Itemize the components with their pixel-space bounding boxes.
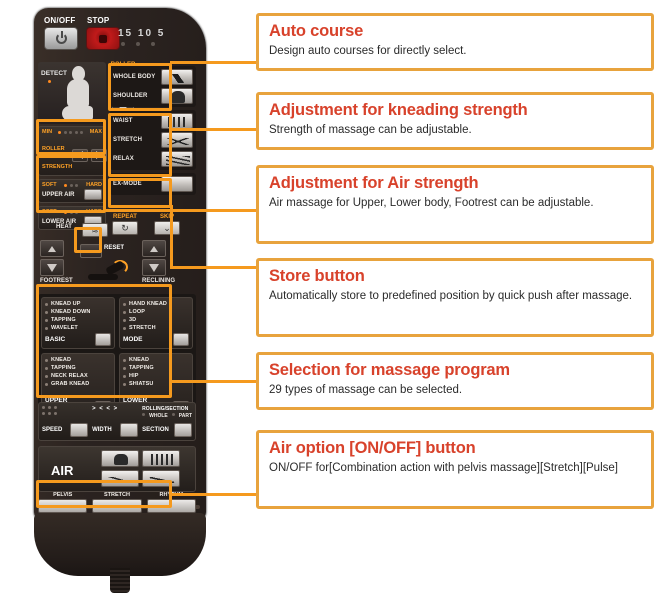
callout-body: 29 types of massage can be selected. xyxy=(269,383,641,398)
auto-course-label: WAIST xyxy=(113,118,133,124)
led xyxy=(69,131,72,134)
program-label: KNEAD xyxy=(51,357,71,363)
led xyxy=(123,359,126,362)
program-label: KNEAD xyxy=(129,357,149,363)
width-button-row[interactable]: WIDTH xyxy=(92,423,138,437)
program-label: STRETCH xyxy=(129,325,156,331)
auto-course-group-2: WAIST STRETCH RELAX xyxy=(110,110,196,170)
program-item[interactable]: KNEAD UP xyxy=(45,301,111,307)
connector-air-strength xyxy=(104,209,260,212)
stretch-label: STRETCH xyxy=(92,492,141,498)
auto-course-panel: WHOLE BODY SHOULDER WAIST STRETCH RELAX xyxy=(110,66,196,198)
min-label: MIN xyxy=(42,129,52,135)
led xyxy=(75,184,78,187)
roller-strength-increase-button[interactable] xyxy=(91,149,107,162)
heat-label: HEAT xyxy=(56,224,72,230)
section-cell: ROLLING/SECTION WHOLE PART SECTION xyxy=(142,406,192,437)
callout-auto-course: Auto course Design auto courses for dire… xyxy=(256,13,654,71)
program-item[interactable]: LOOP xyxy=(123,309,189,315)
roller-strength-label-line1: ROLLER xyxy=(42,146,65,152)
auto-course-label: EX-MODE xyxy=(113,181,142,187)
mode-label: MODE xyxy=(123,336,143,343)
program-label: KNEAD UP xyxy=(51,301,81,307)
led xyxy=(54,406,57,409)
led xyxy=(48,406,51,409)
led xyxy=(70,184,73,187)
width-cell: > < < > WIDTH xyxy=(92,406,138,437)
program-item[interactable]: GRAB KNEAD xyxy=(45,381,111,387)
speed-width-section-panel: SPEED > < < > WIDTH ROLLING/SECTION WHOL… xyxy=(38,402,196,441)
pelvis-cell: PELVIS xyxy=(38,492,87,513)
auto-course-group-1: WHOLE BODY SHOULDER xyxy=(110,66,196,107)
width-label: WIDTH xyxy=(92,427,112,433)
timer-indicator-dots xyxy=(121,42,196,46)
stretch-button[interactable] xyxy=(92,499,141,513)
reset-label: RESET xyxy=(104,245,124,251)
led xyxy=(42,406,45,409)
footrest-up-button[interactable] xyxy=(40,240,64,257)
connector-store xyxy=(170,266,260,269)
basic-label: BASIC xyxy=(45,336,65,343)
onoff-button[interactable] xyxy=(44,27,78,50)
footrest-controls: FOOTREST xyxy=(40,240,66,284)
stretch-cell: STRETCH xyxy=(92,492,141,513)
waist-icon[interactable] xyxy=(161,113,193,129)
program-item[interactable]: KNEAD DOWN xyxy=(45,309,111,315)
program-label: TAPPING xyxy=(51,365,76,371)
upper-air-button[interactable] xyxy=(84,189,102,200)
connector-auto-course xyxy=(170,61,260,64)
program-item[interactable]: TAPPING xyxy=(45,365,111,371)
led xyxy=(64,184,67,187)
speed-button-row[interactable]: SPEED xyxy=(42,423,88,437)
led xyxy=(45,311,48,314)
led xyxy=(123,319,126,322)
roller-strength-scale: MIN MAX xyxy=(42,129,102,135)
auto-course-stretch[interactable]: STRETCH xyxy=(113,132,193,148)
ex-mode-button[interactable] xyxy=(161,176,193,192)
air-icon-buttons xyxy=(101,450,180,487)
callout-title: Selection for massage program xyxy=(269,361,641,380)
timer-dot xyxy=(121,42,125,46)
auto-course-group-3: EX-MODE xyxy=(110,173,196,195)
auto-course-label: STRETCH xyxy=(113,137,142,143)
mode-button-row[interactable]: MODE xyxy=(123,333,189,346)
air-foot-icon[interactable] xyxy=(142,470,180,487)
speed-indicator xyxy=(42,406,88,421)
led xyxy=(75,131,78,134)
callout-body: Air massage for Upper, Lower body, Footr… xyxy=(269,196,641,211)
timer-values: 15 10 5 xyxy=(118,28,196,39)
pelvis-button[interactable] xyxy=(38,499,87,513)
triangle-down-icon xyxy=(149,264,159,272)
led xyxy=(45,327,48,330)
program-label: KNEAD DOWN xyxy=(51,309,91,315)
callout-title: Store button xyxy=(269,267,641,286)
relax-icon[interactable] xyxy=(161,151,193,167)
power-icon xyxy=(56,33,67,44)
speed-button[interactable] xyxy=(70,423,88,437)
led xyxy=(45,359,48,362)
heat-control[interactable]: HEAT xyxy=(56,224,72,230)
width-arrows-icon: > < < > xyxy=(92,406,138,412)
basic-program-column: KNEAD UP KNEAD DOWN TAPPING WAVELET BASI… xyxy=(41,297,115,349)
upper-air-controls: UPPER AIR xyxy=(42,189,102,200)
air-leg-icon[interactable] xyxy=(101,470,139,487)
onoff-label: ON/OFF xyxy=(44,16,75,25)
air-waist-icon[interactable] xyxy=(142,450,180,467)
program-label: LOOP xyxy=(129,309,145,315)
rolling-section-title: ROLLING/SECTION xyxy=(142,406,192,412)
callout-air-option: Air option [ON/OFF] button ON/OFF for[Co… xyxy=(256,430,654,509)
upper-air-row: SOFT HARD UPPER AIR xyxy=(38,179,106,203)
reclining-controls: RECLINING xyxy=(142,240,168,284)
repeat-arrow-icon[interactable]: ↻ xyxy=(112,221,138,235)
led xyxy=(172,413,175,416)
callout-air-strength: Adjustment for Air strength Air massage … xyxy=(256,165,654,244)
callout-massage-program: Selection for massage program 29 types o… xyxy=(256,352,654,410)
program-item[interactable]: NECK RELAX xyxy=(45,373,111,379)
program-label: NECK RELAX xyxy=(51,373,88,379)
callout-title: Air option [ON/OFF] button xyxy=(269,439,641,458)
detect-led xyxy=(48,80,51,83)
connector-kneading xyxy=(170,128,260,131)
callout-body: ON/OFF for[Combination action with pelvi… xyxy=(269,461,641,476)
speed-leds-row1 xyxy=(42,406,88,409)
program-label: GRAB KNEAD xyxy=(51,381,89,387)
auto-course-label: WHOLE BODY xyxy=(113,74,155,80)
silhouette-torso xyxy=(67,79,89,108)
auto-course-label: SHOULDER xyxy=(113,93,147,99)
roller-strength-row: MIN MAX ROLLER STRENGTH xyxy=(38,126,106,176)
program-label: TAPPING xyxy=(51,317,76,323)
chevron-down-icon[interactable]: ⌄ xyxy=(154,221,180,235)
callout-title: Adjustment for Air strength xyxy=(269,174,641,193)
upper-air-soft-label: SOFT xyxy=(42,182,57,188)
led xyxy=(54,412,57,415)
whole-part-row: WHOLE PART xyxy=(142,413,192,419)
air-panel: AIR xyxy=(38,446,196,492)
roller-strength-decrease-button[interactable] xyxy=(72,149,88,162)
store-reset-button[interactable] xyxy=(80,244,102,258)
triangle-up-icon xyxy=(47,245,57,253)
led xyxy=(45,375,48,378)
heat-button[interactable]: ≋ xyxy=(82,222,108,237)
section-button[interactable] xyxy=(174,423,192,437)
roller-strength-label-line2: STRENGTH xyxy=(42,164,72,170)
reclining-down-button[interactable] xyxy=(142,259,166,276)
part-label: PART xyxy=(179,413,192,419)
air-title: AIR xyxy=(51,463,73,478)
stop-button[interactable] xyxy=(86,27,120,50)
upper-air-hard-label: HARD xyxy=(86,182,102,188)
silhouette-legs xyxy=(62,106,93,121)
led xyxy=(64,131,67,134)
mode-button[interactable] xyxy=(173,333,189,346)
shoulder-person-icon[interactable] xyxy=(161,88,193,104)
max-label: MAX xyxy=(90,129,102,135)
chair-seat xyxy=(88,274,118,280)
rhythm-button[interactable] xyxy=(147,499,196,513)
program-label: WAVELET xyxy=(51,325,78,331)
connector-program xyxy=(170,380,260,383)
timer-dot xyxy=(151,42,155,46)
program-label: SHIATSU xyxy=(129,381,153,387)
reclining-up-button[interactable] xyxy=(142,240,166,257)
led xyxy=(123,383,126,386)
width-button[interactable] xyxy=(120,423,138,437)
section-button-row[interactable]: SECTION xyxy=(142,423,192,437)
arrow-right-icon xyxy=(96,151,102,159)
auto-course-whole-body[interactable]: WHOLE BODY xyxy=(113,69,193,85)
roller-strength-leds xyxy=(58,131,83,134)
detect-panel: DETECT xyxy=(38,62,106,124)
basic-button-row[interactable]: BASIC xyxy=(45,333,111,346)
program-item[interactable]: HAND KNEAD xyxy=(123,301,189,307)
reclining-chair-icon[interactable] xyxy=(161,69,193,85)
callout-body: Automatically store to predefined positi… xyxy=(269,289,641,304)
led xyxy=(58,131,61,134)
auto-course-ex-mode[interactable]: EX-MODE xyxy=(113,176,193,192)
auto-course-waist[interactable]: WAIST xyxy=(113,113,193,129)
heat-waves-icon[interactable]: ≋ xyxy=(82,223,108,237)
program-item[interactable]: 3D xyxy=(123,317,189,323)
program-item[interactable]: STRETCH xyxy=(123,325,189,331)
repeat-control[interactable]: REPEAT ↻ xyxy=(112,214,138,235)
led xyxy=(45,319,48,322)
upper-air-scale: SOFT HARD xyxy=(42,182,102,188)
air-shoulder-icon[interactable] xyxy=(101,450,139,467)
timer-dot xyxy=(136,42,140,46)
led xyxy=(123,311,126,314)
whole-label: WHOLE xyxy=(149,413,168,419)
remote-header: ON/OFF STOP 15 10 5 xyxy=(40,14,200,62)
led xyxy=(45,303,48,306)
stop-square-icon xyxy=(99,35,107,43)
pelvis-label: PELVIS xyxy=(38,492,87,498)
auto-course-shoulder[interactable]: SHOULDER xyxy=(113,88,193,104)
program-item[interactable]: HIP xyxy=(123,373,189,379)
speed-label: SPEED xyxy=(42,427,62,433)
roller-strength-controls: ROLLER STRENGTH xyxy=(42,137,102,173)
callout-body: Design auto courses for directly select. xyxy=(269,44,641,59)
stop-label: STOP xyxy=(87,16,109,25)
connector-vertical xyxy=(170,205,173,269)
skip-control[interactable]: SKIP ⌄ xyxy=(154,214,180,235)
program-label: HAND KNEAD xyxy=(129,301,167,307)
footrest-down-button[interactable] xyxy=(40,259,64,276)
callout-store-button: Store button Automatically store to pred… xyxy=(256,258,654,337)
body-silhouette-icon xyxy=(62,66,96,122)
led xyxy=(142,413,145,416)
remote-lower-housing xyxy=(34,513,206,576)
triangle-up-icon xyxy=(149,245,159,253)
led xyxy=(123,367,126,370)
led xyxy=(42,412,45,415)
led xyxy=(45,367,48,370)
repeat-label: REPEAT xyxy=(112,214,138,220)
skip-label: SKIP xyxy=(154,214,180,220)
chair-recline-icon xyxy=(88,262,128,282)
callout-body: Strength of massage can be adjustable. xyxy=(269,123,641,138)
program-item[interactable]: KNEAD xyxy=(123,357,189,363)
section-label: SECTION xyxy=(142,427,169,433)
arrow-left-icon xyxy=(77,151,83,159)
basic-button[interactable] xyxy=(95,333,111,346)
auto-course-label: RELAX xyxy=(113,156,134,162)
remote-cable xyxy=(110,568,130,593)
reclining-label: RECLINING xyxy=(142,278,168,284)
triangle-down-icon xyxy=(47,264,57,272)
section-indicator: ROLLING/SECTION WHOLE PART xyxy=(142,406,192,421)
upper-air-label: UPPER AIR xyxy=(42,192,74,198)
led xyxy=(45,383,48,386)
stretch-icon[interactable] xyxy=(161,132,193,148)
program-label: TAPPING xyxy=(129,365,154,371)
connector-air-option xyxy=(170,493,260,496)
led xyxy=(123,303,126,306)
mode-program-column: HAND KNEAD LOOP 3D STRETCH MODE xyxy=(119,297,193,349)
program-label: HIP xyxy=(129,373,138,379)
led xyxy=(48,412,51,415)
program-row-1: KNEAD UP KNEAD DOWN TAPPING WAVELET BASI… xyxy=(41,297,193,349)
speed-cell: SPEED xyxy=(42,406,88,437)
width-indicator: > < < > xyxy=(92,406,138,421)
program-item[interactable]: TAPPING xyxy=(45,317,111,323)
program-label: 3D xyxy=(129,317,136,323)
program-item[interactable]: TAPPING xyxy=(123,365,189,371)
timer-display: 15 10 5 xyxy=(118,28,196,46)
program-item[interactable]: WAVELET xyxy=(45,325,111,331)
upper-air-leds xyxy=(64,184,78,187)
led xyxy=(123,327,126,330)
program-item[interactable]: KNEAD xyxy=(45,357,111,363)
callout-title: Adjustment for kneading strength xyxy=(269,101,641,120)
led xyxy=(80,131,83,134)
auto-course-relax[interactable]: RELAX xyxy=(113,151,193,167)
footrest-label: FOOTREST xyxy=(40,278,66,284)
led xyxy=(123,375,126,378)
callout-kneading-strength: Adjustment for kneading strength Strengt… xyxy=(256,92,654,150)
callout-title: Auto course xyxy=(269,22,641,41)
speed-leds-row2 xyxy=(42,412,88,415)
